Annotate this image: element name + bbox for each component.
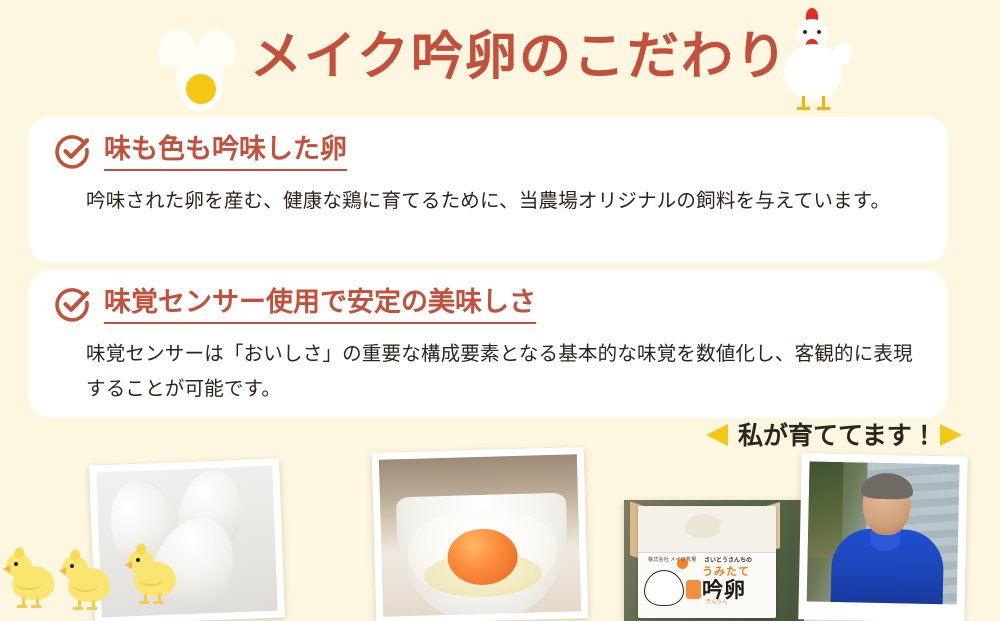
triangle-left-icon xyxy=(706,424,728,446)
chick-wing xyxy=(16,576,42,590)
feature-card-1: 味も色も吟味した卵 吟味された卵を産む、健康な鶏に育てるために、当農場オリジナル… xyxy=(28,117,948,262)
egg-yolk xyxy=(186,74,216,104)
hen-foot-right xyxy=(817,107,830,110)
hen-foot-left xyxy=(797,107,810,110)
chick-foot-left xyxy=(17,605,27,608)
chick-eye xyxy=(70,564,74,568)
carton-stamp-icon xyxy=(686,580,701,599)
feature-card-2: 味覚センサー使用で安定の美味しさ 味覚センサーは「おいしさ」の重要な構成要素とな… xyxy=(28,270,948,418)
chick-eye xyxy=(14,562,18,566)
chick-beak xyxy=(59,567,66,575)
chick-foot-right xyxy=(31,605,41,608)
check-circle-icon xyxy=(54,132,92,170)
carton-hen-drawing-icon xyxy=(644,570,684,606)
banner: 私が育ててます！ xyxy=(700,418,968,456)
white-eggs-image xyxy=(96,466,277,618)
chick-foot-right xyxy=(87,607,97,610)
chick-foot-left xyxy=(139,601,149,604)
carton-chick-emboss-icon xyxy=(686,514,720,538)
white-eggs-photo xyxy=(89,458,285,621)
chick-icon xyxy=(6,548,58,610)
background-plant xyxy=(808,461,844,558)
feature-body-1: 吟味された卵を産む、健康な鶏に育てるために、当農場オリジナルの飼料を与えています… xyxy=(86,184,922,219)
feature-heading-1: 味も色も吟味した卵 xyxy=(104,131,347,171)
chick-foot-right xyxy=(153,601,163,604)
egg-carton-image: 株式会社 メイク牧場 さいとうさんちの うみたて 吟卵 ぎんらん xyxy=(624,500,804,621)
egg-carton-box-photo: 株式会社 メイク牧場 さいとうさんちの うみたて 吟卵 ぎんらん xyxy=(624,500,804,621)
page-title: メイク吟卵のこだわり xyxy=(250,26,750,88)
feature-heading-row-1: 味も色も吟味した卵 xyxy=(54,131,922,171)
carton-company-text: 株式会社 メイク牧場 xyxy=(648,556,696,563)
promo-banner: メイク吟卵のこだわり 味も色も吟味した卵 吟味された卵を xyxy=(0,0,1000,621)
white-hen-icon xyxy=(778,6,850,114)
header: メイク吟卵のこだわり xyxy=(0,0,1000,120)
chick-icon xyxy=(62,550,114,612)
egg-on-rice-photo xyxy=(372,447,589,621)
chick-beak xyxy=(125,561,132,569)
chick-wing xyxy=(72,578,98,592)
triangle-right-icon xyxy=(940,424,962,446)
chick-eye xyxy=(136,558,140,562)
banner-text: 私が育ててます！ xyxy=(738,418,934,454)
cracked-egg-icon xyxy=(150,8,250,113)
feature-heading-2: 味覚センサー使用で安定の美味しさ xyxy=(104,284,536,324)
hen-eye-right xyxy=(817,30,821,34)
chick-wing xyxy=(138,572,164,586)
carton-line4-text: ぎんらん xyxy=(706,598,728,605)
check-circle-icon xyxy=(54,285,92,323)
chick-icon xyxy=(128,544,180,606)
feature-body-2: 味覚センサーは「おいしさ」の重要な構成要素となる基本的な味覚を数値化し、客観的に… xyxy=(86,337,922,407)
feature-heading-row-2: 味覚センサー使用で安定の美味しさ xyxy=(54,284,922,324)
egg-on-rice-image xyxy=(379,454,581,616)
farmer-portrait-photo xyxy=(798,453,967,621)
farmer-image xyxy=(807,461,960,604)
hen-eye-left xyxy=(803,30,807,34)
chick-beak xyxy=(3,565,10,573)
chick-foot-left xyxy=(73,607,83,610)
